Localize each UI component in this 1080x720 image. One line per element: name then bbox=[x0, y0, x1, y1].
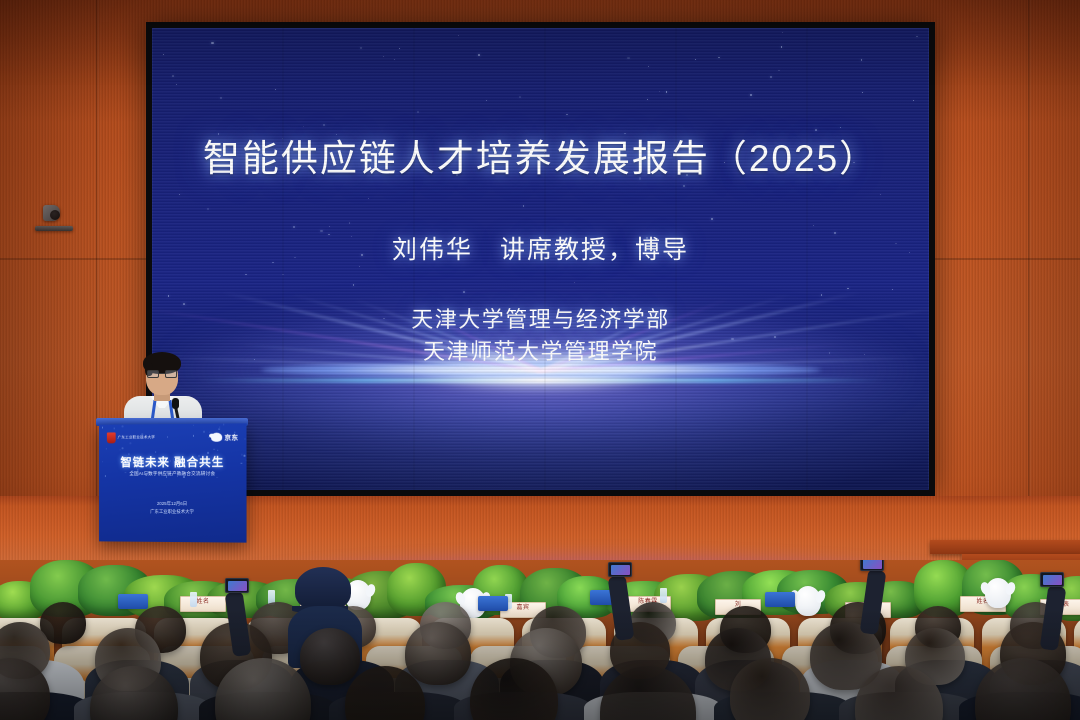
banner-host-text: 广东工业职业技术大学 bbox=[99, 508, 246, 517]
water-bottle bbox=[190, 592, 197, 607]
gift-box bbox=[765, 592, 795, 607]
gift-box bbox=[478, 596, 508, 611]
slide-affiliation: 天津大学管理与经济学部 天津师范大学管理学院 bbox=[152, 304, 929, 368]
conference-photo-scene: 智能供应链人才培养发展报告（2025） 刘伟华 讲席教授，博导 天津大学管理与经… bbox=[0, 0, 1080, 720]
jd-logo-icon: 京东 bbox=[211, 432, 238, 442]
podium-banner: 广东工业职业技术大学 京东 智链未来 融合共生 全国AI与数字供应链产教融合交流… bbox=[99, 423, 246, 542]
audience-head bbox=[300, 628, 360, 685]
slide-affiliation-line2: 天津师范大学管理学院 bbox=[152, 336, 929, 368]
slide-content: 智能供应链人才培养发展报告（2025） 刘伟华 讲席教授，博导 天津大学管理与经… bbox=[152, 28, 929, 368]
cap-icon bbox=[295, 567, 351, 611]
banner-footer: 2025年12月6日 广东工业职业技术大学 bbox=[99, 500, 246, 517]
slide-presenter: 刘伟华 讲席教授，博导 bbox=[152, 230, 929, 266]
name-card: 姓名 bbox=[180, 596, 226, 612]
university-logo-text: 广东工业职业技术大学 bbox=[118, 435, 155, 440]
led-presentation-screen: 智能供应链人才培养发展报告（2025） 刘伟华 讲席教授，博导 天津大学管理与经… bbox=[146, 22, 935, 496]
glasses-icon bbox=[147, 370, 177, 378]
slide-affiliation-line1: 天津大学管理与经济学部 bbox=[152, 304, 929, 336]
jd-dog-plush bbox=[795, 586, 821, 616]
phone-camera bbox=[860, 560, 884, 571]
university-logo-icon: 广东工业职业技术大学 bbox=[107, 432, 155, 443]
audience-area: 姓名代表嘉宾陈春霖刘赵姓名代表 bbox=[0, 560, 1080, 720]
jd-dog-icon bbox=[211, 432, 222, 441]
phone-camera bbox=[1040, 572, 1064, 587]
name-card-text: 姓名 bbox=[181, 597, 225, 608]
water-bottle bbox=[660, 588, 667, 603]
banner-logo-row: 广东工业职业技术大学 京东 bbox=[107, 429, 239, 444]
phone-camera bbox=[608, 562, 632, 577]
slide-title: 智能供应链人才培养发展报告（2025） bbox=[152, 128, 929, 182]
gift-box bbox=[118, 594, 148, 609]
phone-camera bbox=[225, 578, 249, 593]
jd-logo-text: 京东 bbox=[224, 432, 238, 442]
jd-dog-plush bbox=[985, 578, 1011, 608]
banner-subtitle: 全国AI与数字供应链产教融合交流研讨会 bbox=[99, 471, 246, 477]
audience-head bbox=[405, 622, 471, 685]
banner-headline: 智链未来 融合共生 bbox=[99, 454, 246, 470]
